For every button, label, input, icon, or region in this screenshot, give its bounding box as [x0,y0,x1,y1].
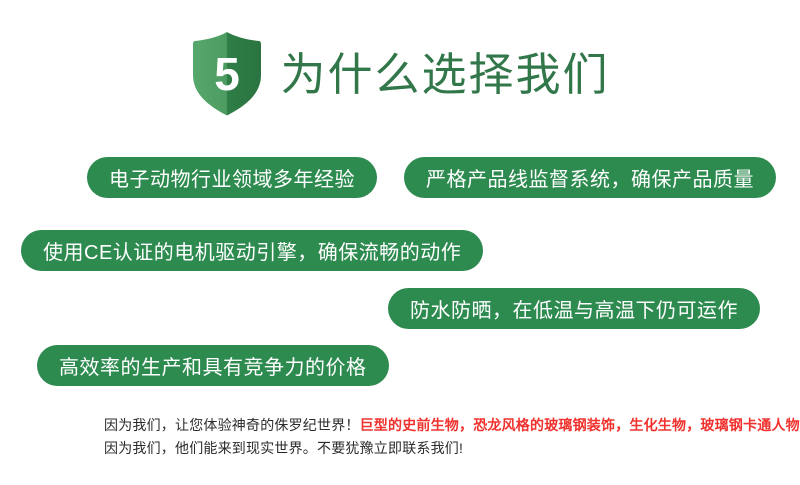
banner-header: 5 为什么选择我们 [0,26,800,122]
footer-line-2: 因为我们，他们能来到现实世界。不要犹豫立即联系我们! [104,437,764,460]
footer-paragraph: 因为我们，让您体验神奇的侏罗纪世界！巨型的史前生物，恐龙风格的玻璃钢装饰，生化生… [104,414,764,460]
shield-number: 5 [215,48,241,100]
shield-icon: 5 [190,31,264,117]
feature-pill-3[interactable]: 使用CE认证的电机驱动引擎，确保流畅的动作 [21,230,483,271]
footer-line-1-prefix: 因为我们，让您体验神奇的侏罗纪世界！ [104,417,360,433]
footer-line-1: 因为我们，让您体验神奇的侏罗纪世界！巨型的史前生物，恐龙风格的玻璃钢装饰，生化生… [104,414,764,437]
page-title: 为什么选择我们 [280,52,609,97]
feature-pill-2[interactable]: 严格产品线监督系统，确保产品质量 [404,157,776,198]
promo-banner: 5 为什么选择我们 电子动物行业领域多年经验 严格产品线监督系统，确保产品质量 … [0,0,800,485]
feature-pill-1[interactable]: 电子动物行业领域多年经验 [87,157,377,198]
footer-line-1-highlight: 巨型的史前生物，恐龙风格的玻璃钢装饰，生化生物，玻璃钢卡通人物 [360,417,800,433]
feature-pill-4[interactable]: 防水防晒，在低温与高温下仍可运作 [388,288,760,329]
feature-pill-5[interactable]: 高效率的生产和具有竞争力的价格 [37,345,389,386]
